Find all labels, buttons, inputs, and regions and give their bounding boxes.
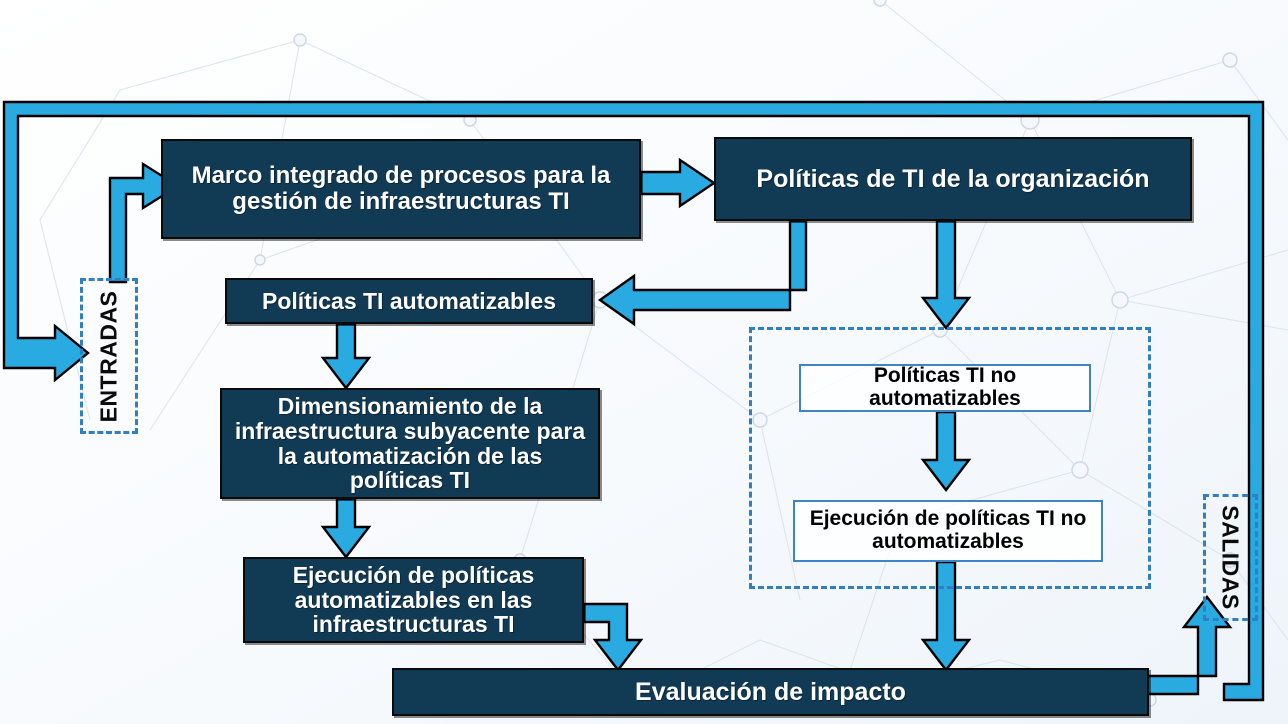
node-politicas-ti-automatizables[interactable]: Políticas TI automatizables [225,278,593,324]
node-evaluacion-impacto-label: Evaluación de impacto [635,679,906,706]
node-ejecucion-no-automatizables[interactable]: Ejecución de políticas TI no automatizab… [793,500,1103,562]
entradas-label: ENTRADAS [96,290,123,422]
node-politicas-ti-organizacion-label: Políticas de TI de la organización [756,166,1149,193]
arrow-automatizables-to-dimensionamiento [323,324,369,388]
node-politicas-ti-organizacion[interactable]: Políticas de TI de la organización [714,137,1192,221]
node-ejecucion-no-automatizables-label: Ejecución de políticas TI no automatizab… [803,508,1093,553]
node-politicas-ti-no-automatizables-label: Políticas TI no automatizables [809,365,1081,410]
arrow-dimensionamiento-to-ejecucion [323,499,369,557]
node-marco-integrado[interactable]: Marco integrado de procesos para la gest… [161,139,641,239]
arrow-politicasorg-to-no-automatizables [923,221,969,328]
node-evaluacion-impacto[interactable]: Evaluación de impacto [392,668,1149,716]
salidas-box: SALIDAS [1203,494,1258,621]
arrow-ejecucion-auto-to-evaluacion [584,604,641,670]
node-ejecucion-automatizables-label: Ejecución de políticas automatizables en… [255,563,572,637]
node-politicas-ti-automatizables-label: Políticas TI automatizables [262,289,556,314]
node-politicas-ti-no-automatizables[interactable]: Políticas TI no automatizables [799,364,1091,412]
node-dimensionamiento[interactable]: Dimensionamiento de la infraestructura s… [220,388,600,499]
salidas-label: SALIDAS [1217,505,1244,609]
node-marco-integrado-label: Marco integrado de procesos para la gest… [175,163,627,215]
arrow-marco-to-politicas-org [641,160,714,206]
node-ejecucion-automatizables[interactable]: Ejecución de políticas automatizables en… [243,557,584,643]
diagram-canvas: ENTRADAS SALIDAS Marco integrado de proc… [0,0,1288,724]
entradas-box: ENTRADAS [80,278,138,434]
node-dimensionamiento-label: Dimensionamiento de la infraestructura s… [232,394,588,493]
